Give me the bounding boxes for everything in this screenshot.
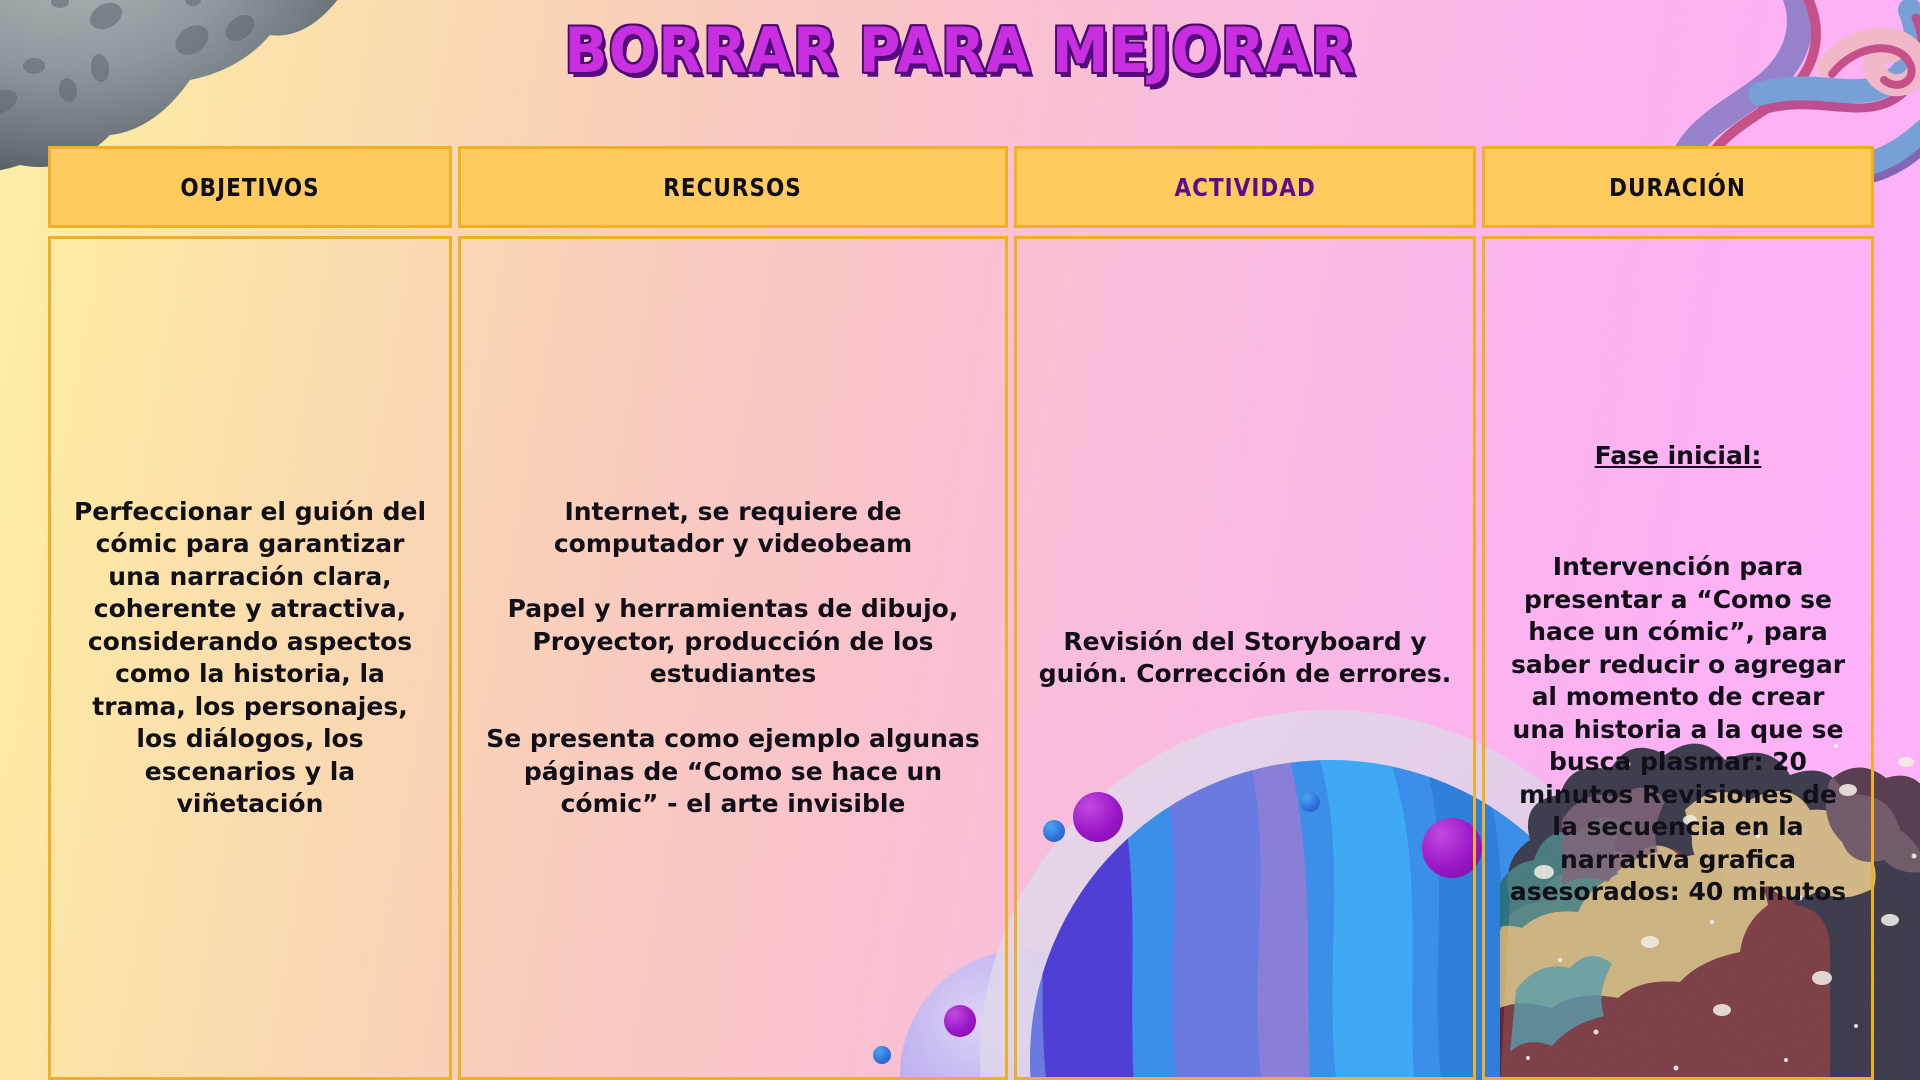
column-header-duracion-label: DURACIÓN — [1610, 173, 1747, 202]
table-header-row: OBJETIVOS RECURSOS ACTIVIDAD DURACIÓN — [48, 146, 1874, 228]
cell-duracion: Fase inicial: Intervención para presenta… — [1482, 236, 1874, 1080]
page-title-bar: BORRAR PARA MEJORAR — [0, 14, 1920, 87]
column-header-actividad-label: ACTIVIDAD — [1174, 173, 1315, 202]
column-header-recursos-label: RECURSOS — [664, 173, 803, 202]
cell-duracion-lead: Fase inicial: — [1503, 408, 1853, 552]
column-header-duracion: DURACIÓN — [1482, 146, 1874, 228]
cell-recursos: Internet, se requiere de computador y vi… — [458, 236, 1008, 1080]
page-title: BORRAR PARA MEJORAR — [564, 14, 1355, 87]
activity-table: OBJETIVOS RECURSOS ACTIVIDAD DURACIÓN Pe… — [48, 146, 1874, 1080]
table-row: Perfeccionar el guión del cómic para gar… — [48, 236, 1874, 1080]
cell-duracion-body: Intervención para presentar a “Como se h… — [1503, 551, 1853, 909]
column-header-objetivos: OBJETIVOS — [48, 146, 452, 228]
cell-actividad: Revisión del Storyboard y guión. Correcc… — [1014, 236, 1476, 1080]
cell-duracion-lead-text: Fase inicial: — [1503, 440, 1853, 473]
cell-objetivos: Perfeccionar el guión del cómic para gar… — [48, 236, 452, 1080]
cell-objetivos-text: Perfeccionar el guión del cómic para gar… — [69, 496, 431, 821]
column-header-actividad: ACTIVIDAD — [1014, 146, 1476, 228]
column-header-objetivos-label: OBJETIVOS — [180, 173, 319, 202]
cell-recursos-text: Internet, se requiere de computador y vi… — [479, 496, 987, 821]
column-header-recursos: RECURSOS — [458, 146, 1008, 228]
cell-actividad-text: Revisión del Storyboard y guión. Correcc… — [1035, 626, 1455, 691]
